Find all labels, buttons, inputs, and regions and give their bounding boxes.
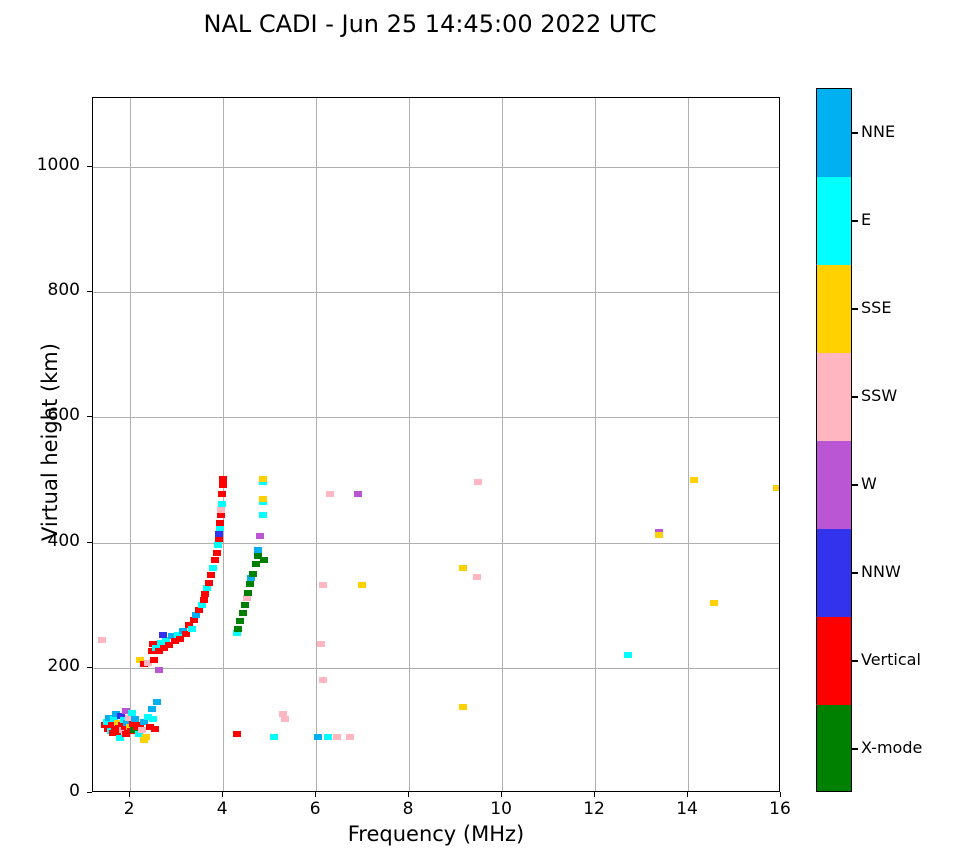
- data-point: [324, 734, 332, 740]
- data-point: [281, 716, 289, 722]
- colorbar-segment-vertical[interactable]: [817, 617, 851, 705]
- data-point: [473, 574, 481, 580]
- data-point: [270, 734, 278, 740]
- data-point: [205, 580, 213, 586]
- colorbar-segment-e[interactable]: [817, 177, 851, 265]
- data-point: [128, 710, 136, 716]
- data-point: [326, 491, 334, 497]
- data-point: [150, 657, 158, 663]
- data-point: [252, 561, 260, 567]
- colorbar-tick: [852, 748, 858, 750]
- x-tick: [222, 792, 223, 797]
- colorbar-label-w: W: [861, 474, 877, 493]
- x-tick: [129, 792, 130, 797]
- colorbar-label-x-mode: X-mode: [861, 738, 922, 757]
- colorbar-label-e: E: [861, 210, 871, 229]
- x-tick: [501, 792, 502, 797]
- data-point: [710, 600, 718, 606]
- data-point: [217, 507, 225, 513]
- y-tick: [87, 416, 92, 417]
- data-point: [151, 726, 159, 732]
- data-point: [234, 626, 242, 632]
- data-point: [140, 737, 148, 743]
- colorbar-label-nne: NNE: [861, 122, 895, 141]
- data-point: [213, 550, 221, 556]
- colorbar[interactable]: [816, 88, 852, 792]
- gridline-vertical: [409, 98, 410, 791]
- data-point: [474, 479, 482, 485]
- gridline-vertical: [223, 98, 224, 791]
- gridline-horizontal: [93, 167, 779, 168]
- data-point: [188, 626, 196, 632]
- x-tick: [594, 792, 595, 797]
- data-point: [249, 571, 257, 577]
- y-tick: [87, 667, 92, 668]
- data-point: [246, 581, 254, 587]
- data-point: [690, 477, 698, 483]
- colorbar-segment-nnw[interactable]: [817, 529, 851, 617]
- colorbar-tick: [852, 132, 858, 134]
- data-point: [218, 501, 226, 507]
- y-tick-label: 0: [0, 781, 80, 801]
- data-point: [459, 565, 467, 571]
- y-axis-label: Virtual height (km): [38, 262, 62, 622]
- gridline-vertical: [316, 98, 317, 791]
- y-tick: [87, 792, 92, 793]
- data-point: [211, 557, 219, 563]
- gridline-vertical: [595, 98, 596, 791]
- data-point: [254, 547, 262, 553]
- data-point: [655, 532, 663, 538]
- data-point: [624, 652, 632, 658]
- x-tick: [687, 792, 688, 797]
- gridline-vertical: [502, 98, 503, 791]
- colorbar-label-nnw: NNW: [861, 562, 901, 581]
- data-point: [207, 572, 215, 578]
- x-tick: [408, 792, 409, 797]
- y-tick-label: 1000: [0, 155, 80, 175]
- colorbar-tick: [852, 308, 858, 310]
- data-point: [239, 610, 247, 616]
- data-point: [333, 734, 341, 740]
- colorbar-segment-x-mode[interactable]: [817, 705, 851, 792]
- gridline-vertical: [688, 98, 689, 791]
- data-point: [236, 618, 244, 624]
- data-point: [459, 704, 467, 710]
- x-tick-label: 2: [109, 799, 149, 819]
- data-point: [200, 597, 208, 603]
- gridline-horizontal: [93, 417, 779, 418]
- colorbar-tick: [852, 396, 858, 398]
- colorbar-segment-w[interactable]: [817, 441, 851, 529]
- data-point: [216, 520, 224, 526]
- data-point: [354, 491, 362, 497]
- plot-area: [92, 97, 780, 792]
- data-point: [155, 667, 163, 673]
- data-point: [215, 531, 223, 537]
- data-point: [241, 602, 249, 608]
- colorbar-tick: [852, 660, 858, 662]
- colorbar-tick: [852, 572, 858, 574]
- colorbar-tick: [852, 220, 858, 222]
- y-tick: [87, 542, 92, 543]
- y-tick: [87, 291, 92, 292]
- data-point: [214, 542, 222, 548]
- data-point: [259, 496, 267, 502]
- colorbar-label-sse: SSE: [861, 298, 891, 317]
- colorbar-segment-sse[interactable]: [817, 265, 851, 353]
- gridline-horizontal: [93, 543, 779, 544]
- colorbar-segment-nne[interactable]: [817, 89, 851, 177]
- data-point: [319, 582, 327, 588]
- colorbar-segment-ssw[interactable]: [817, 353, 851, 441]
- data-point: [346, 734, 354, 740]
- data-point: [317, 641, 325, 647]
- colorbar-label-ssw: SSW: [861, 386, 897, 405]
- x-tick-label: 14: [667, 799, 707, 819]
- gridline-horizontal: [93, 292, 779, 293]
- x-tick-label: 10: [481, 799, 521, 819]
- x-axis-label: Frequency (MHz): [92, 822, 780, 846]
- data-point: [319, 677, 327, 683]
- data-point: [260, 557, 268, 563]
- data-point: [259, 476, 267, 482]
- data-point: [773, 485, 780, 491]
- data-point: [98, 637, 106, 643]
- x-tick-label: 4: [202, 799, 242, 819]
- data-point: [153, 699, 161, 705]
- data-point: [259, 512, 267, 518]
- x-tick-label: 8: [388, 799, 428, 819]
- data-point: [233, 731, 241, 737]
- data-point: [219, 482, 227, 488]
- x-tick-label: 12: [574, 799, 614, 819]
- ionogram-figure: NAL CADI - Jun 25 14:45:00 2022 UTC 2468…: [0, 0, 958, 857]
- data-point: [201, 591, 209, 597]
- data-point: [219, 476, 227, 482]
- gridline-vertical: [130, 98, 131, 791]
- data-point: [131, 716, 139, 722]
- x-tick: [315, 792, 316, 797]
- data-point: [209, 565, 217, 571]
- data-point: [148, 706, 156, 712]
- data-point: [358, 582, 366, 588]
- data-point: [244, 590, 252, 596]
- x-tick-label: 6: [295, 799, 335, 819]
- data-point: [149, 716, 157, 722]
- x-tick-label: 16: [760, 799, 800, 819]
- colorbar-tick: [852, 484, 858, 486]
- data-point: [218, 491, 226, 497]
- page-title: NAL CADI - Jun 25 14:45:00 2022 UTC: [0, 10, 860, 38]
- gridline-horizontal: [93, 668, 779, 669]
- colorbar-label-vertical: Vertical: [861, 650, 921, 669]
- data-point: [256, 533, 264, 539]
- data-point: [314, 734, 322, 740]
- y-tick: [87, 166, 92, 167]
- y-tick-label: 200: [0, 656, 80, 676]
- data-point: [159, 632, 167, 638]
- x-tick: [780, 792, 781, 797]
